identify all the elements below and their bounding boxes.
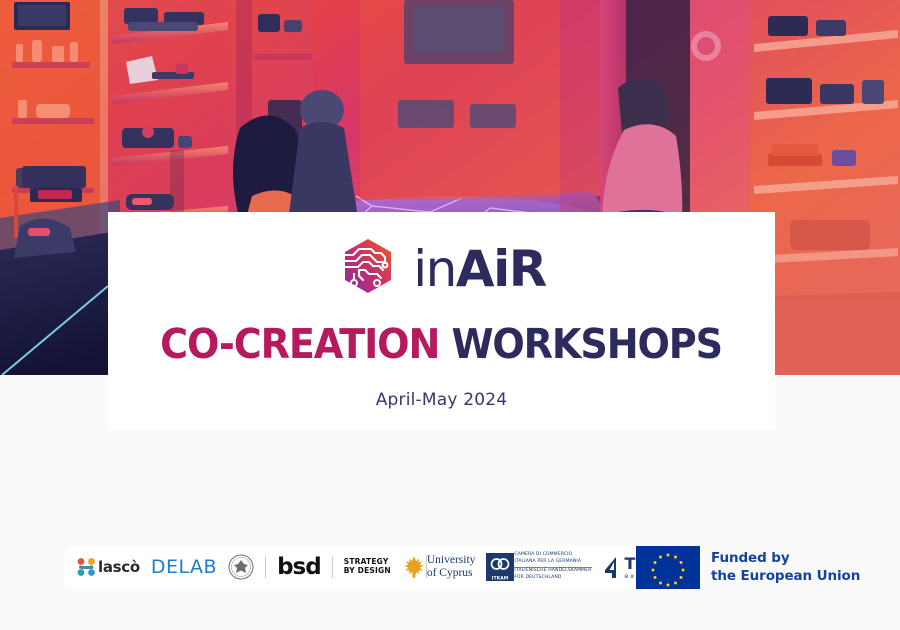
partner-bsd: bsd bbox=[277, 552, 321, 582]
eu-funding-badge: Funded by the European Union bbox=[636, 546, 860, 589]
partner-delab: DELAB bbox=[151, 552, 217, 582]
partner-logo-card: lascò DELAB bsd STRATEGY BY DESIGN bbox=[64, 546, 701, 588]
partner-camera-di-commercio: ITKAM CAMERA DI COMMERCIO ITALIANA PER L… bbox=[486, 552, 591, 582]
university-seal-icon bbox=[228, 554, 254, 580]
svg-text:ITKAM: ITKAM bbox=[492, 576, 509, 581]
page-title-accent: CO-CREATION bbox=[161, 320, 440, 368]
inair-wordmark-light: in bbox=[413, 244, 456, 294]
inair-wordmark-bold: AiR bbox=[456, 244, 546, 294]
cdc-line2: ITALIANA PER LA GERMANIA bbox=[514, 559, 591, 566]
inair-hexagon-circuit-logo bbox=[337, 236, 399, 298]
eu-funding-text: Funded by the European Union bbox=[711, 550, 860, 585]
eu-flag-icon bbox=[636, 546, 700, 589]
partner-logo-bar: lascò DELAB bsd STRATEGY BY DESIGN bbox=[64, 546, 701, 588]
lasco-dots-icon bbox=[76, 557, 98, 577]
inair-logo-lockup: inAiR bbox=[337, 236, 545, 298]
university-of-cyprus-crest-icon bbox=[402, 554, 426, 580]
bsd-tagline-line2: BY DESIGN bbox=[344, 567, 391, 576]
ucy-line2: of Cyprus bbox=[427, 567, 476, 580]
bsd-tagline: STRATEGY BY DESIGN bbox=[344, 552, 391, 582]
divider bbox=[332, 556, 333, 578]
hero-content-card: inAiR CO-CREATION WORKSHOPS April-May 20… bbox=[108, 212, 775, 430]
page-title: CO-CREATION WORKSHOPS bbox=[161, 324, 723, 365]
eu-funding-line1: Funded by bbox=[711, 550, 860, 567]
cdc-line1: CAMERA DI COMMERCIO bbox=[514, 552, 591, 559]
partner-university-of-cyprus: University of Cyprus bbox=[402, 552, 476, 582]
page-title-dark: WORKSHOPS bbox=[452, 320, 723, 368]
itkam-monogram-icon: ITKAM bbox=[486, 553, 514, 581]
ucy-line1: University bbox=[427, 554, 476, 567]
delab-label: DELAB bbox=[151, 556, 217, 578]
partner-lasco: lascò bbox=[76, 552, 140, 582]
eu-funding-line2: the European Union bbox=[711, 568, 860, 585]
partner-university-seal bbox=[228, 552, 254, 582]
bsd-label: bsd bbox=[277, 554, 321, 580]
event-date: April-May 2024 bbox=[376, 390, 508, 410]
lasco-label: lascò bbox=[98, 558, 140, 576]
cdc-line4: FÜR DEUTSCHLAND bbox=[514, 575, 591, 582]
inair-wordmark: inAiR bbox=[413, 244, 545, 294]
divider bbox=[265, 556, 266, 578]
team4-mark-icon bbox=[603, 556, 625, 578]
